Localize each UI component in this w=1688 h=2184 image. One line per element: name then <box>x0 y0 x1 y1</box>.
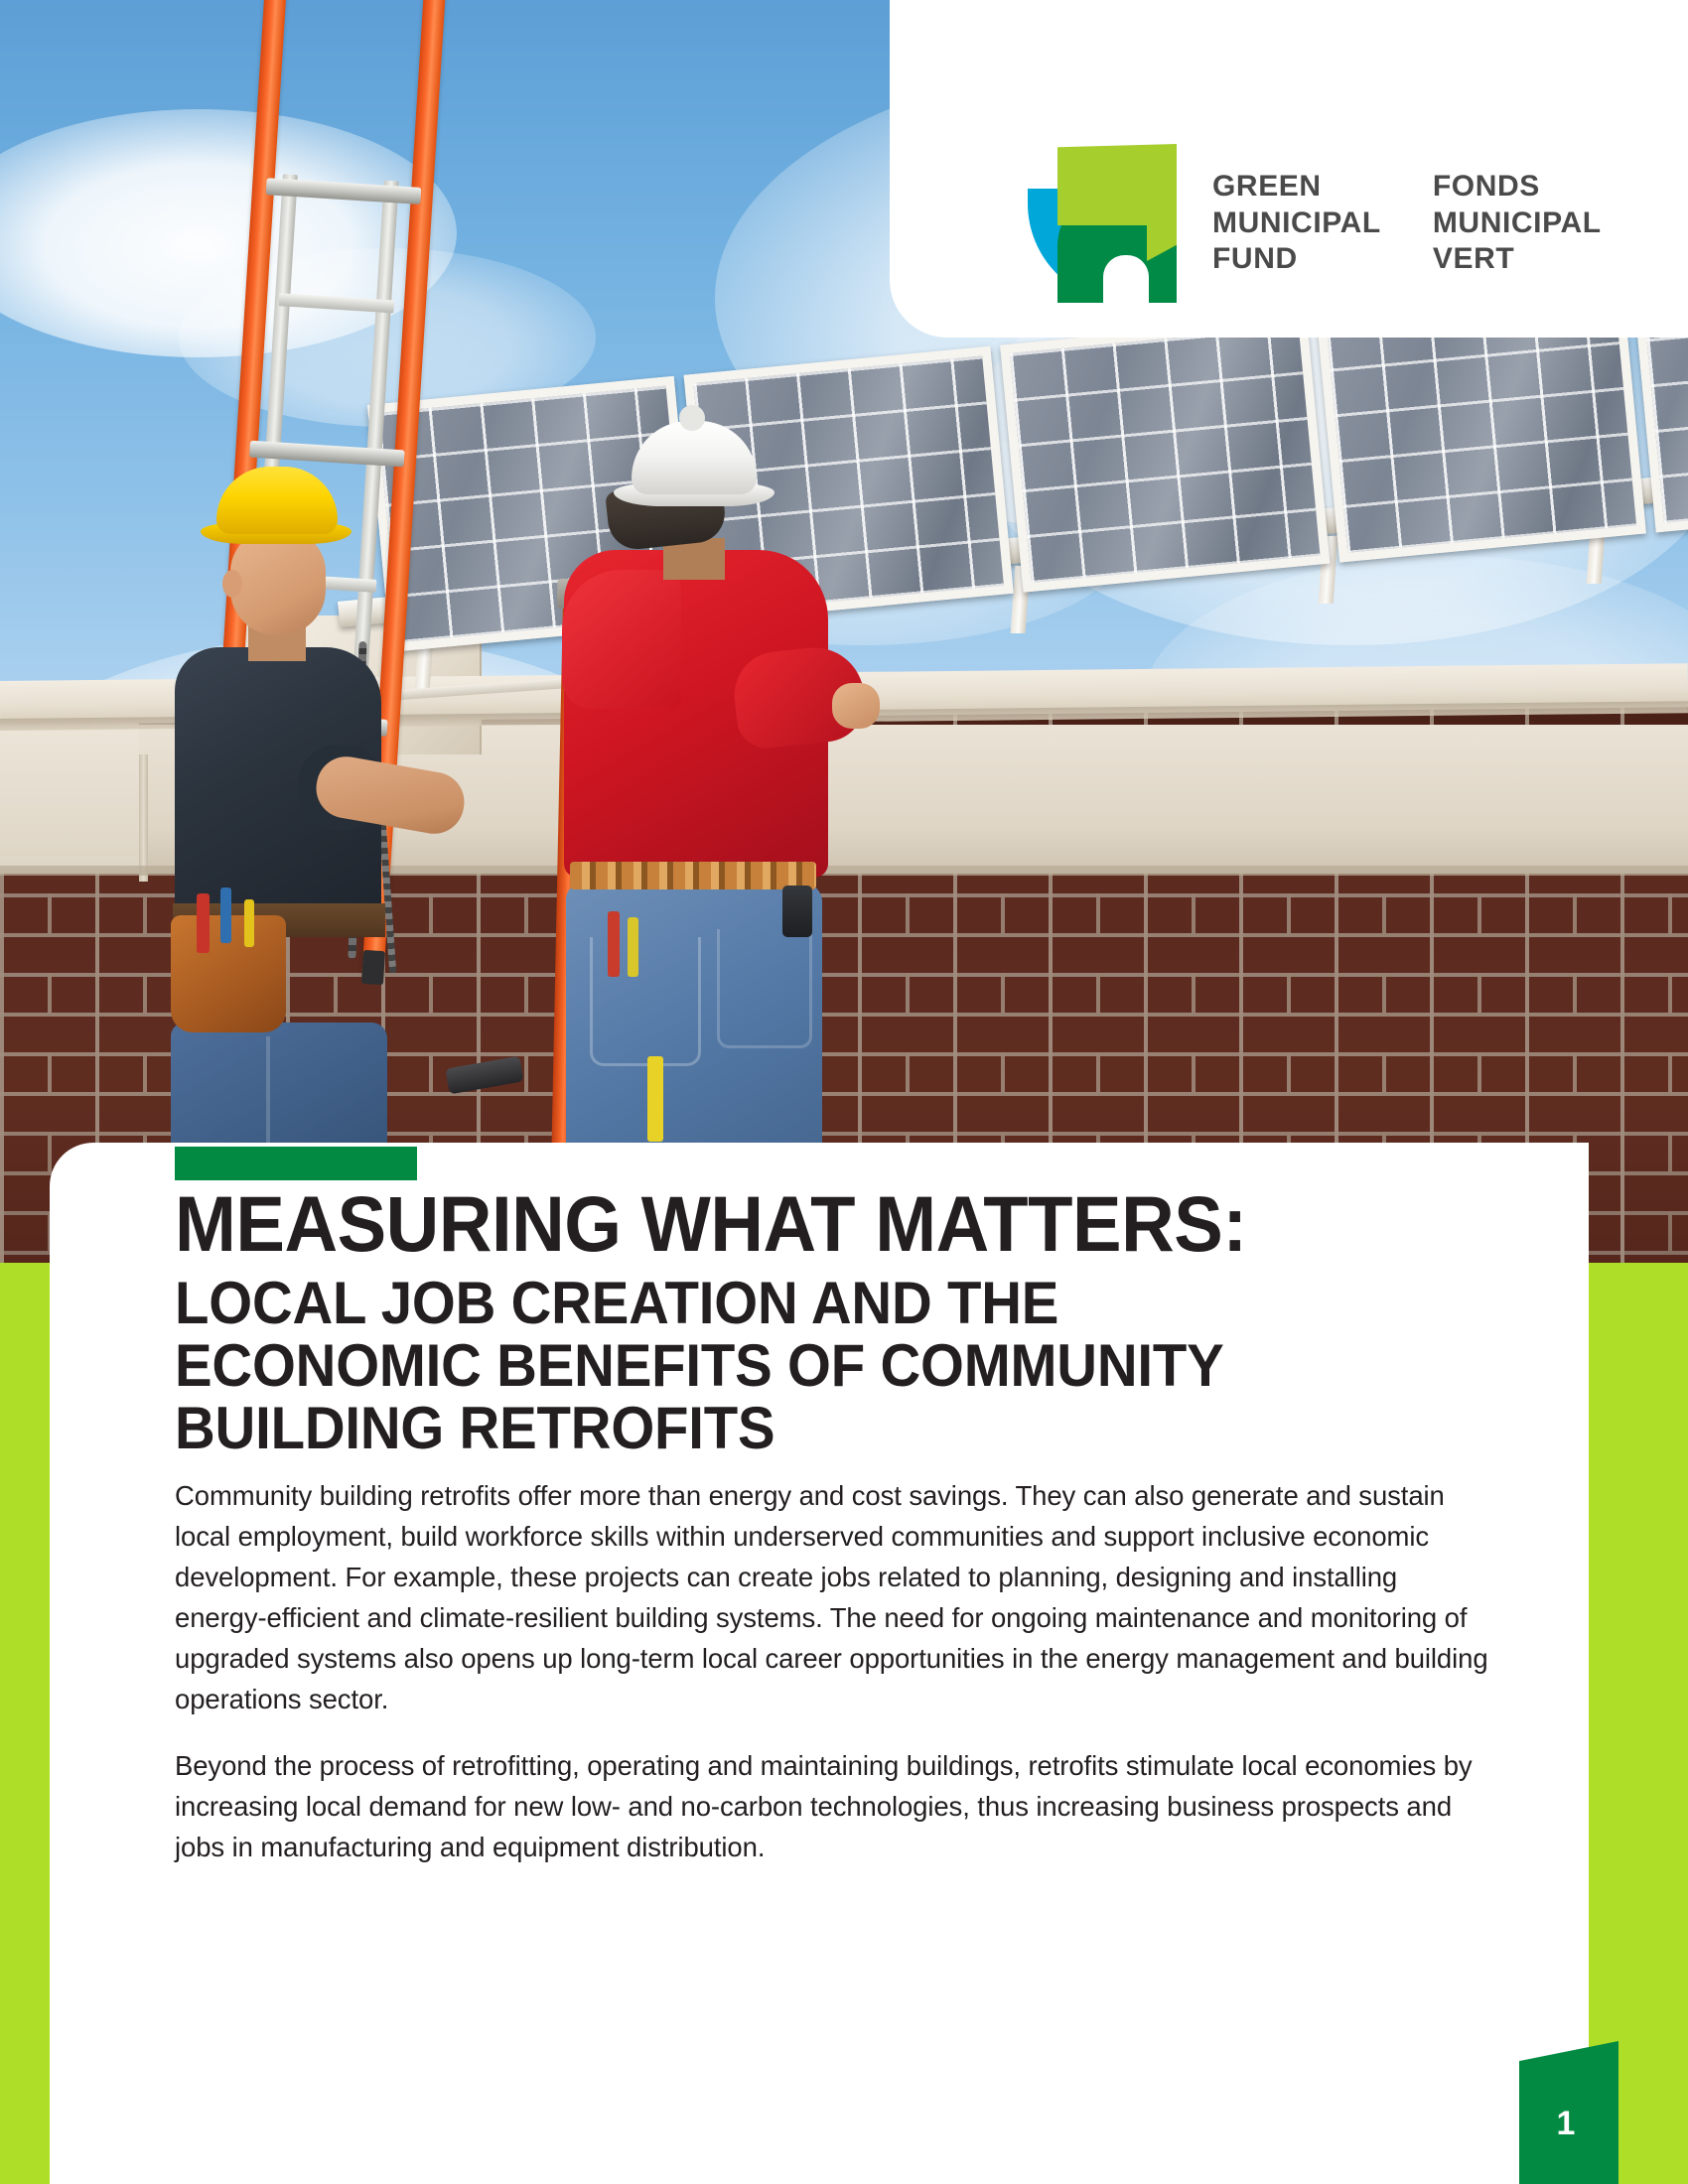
worker-head <box>230 530 326 635</box>
logo-en-line3: FUND <box>1212 241 1381 278</box>
document-page: GREEN MUNICIPAL FUND FONDS MUNICIPAL VER… <box>0 0 1688 2184</box>
body-copy: Community building retrofits offer more … <box>175 1476 1495 1868</box>
logo-wordmark-english: GREEN MUNICIPAL FUND <box>1212 169 1381 278</box>
jeans-pocket <box>717 929 812 1048</box>
green-accent-bar <box>175 1147 417 1180</box>
title-sub-line1: LOCAL JOB CREATION AND THE <box>175 1272 1360 1334</box>
page-number-tab: 1 <box>1519 2041 1618 2184</box>
logo-fr-line1: FONDS <box>1433 169 1602 205</box>
woven-belt <box>570 862 816 889</box>
jeans-pocket <box>590 937 701 1066</box>
worker-white-hardhat <box>556 421 874 1263</box>
tape-measure <box>782 886 812 937</box>
logo-fr-line3: VERT <box>1433 241 1602 278</box>
page-number: 1 <box>1557 2105 1576 2143</box>
worker-ear <box>222 570 242 598</box>
title-subtitle: LOCAL JOB CREATION AND THE ECONOMIC BENE… <box>175 1272 1360 1459</box>
hand-tool <box>647 1056 663 1142</box>
solar-cells <box>1010 326 1321 582</box>
hand-tool <box>220 887 231 943</box>
logo-wordmark: GREEN MUNICIPAL FUND FONDS MUNICIPAL VER… <box>1212 169 1602 278</box>
title-sub-line3: BUILDING RETROFITS <box>175 1397 1360 1459</box>
worker-shoulder <box>562 570 681 709</box>
logo-wordmark-french: FONDS MUNICIPAL VERT <box>1433 169 1602 278</box>
solar-panel <box>1000 317 1330 593</box>
logo-en-line1: GREEN <box>1212 169 1381 205</box>
logo-en-line2: MUNICIPAL <box>1212 205 1381 242</box>
yellow-hardhat <box>216 467 338 534</box>
body-paragraph-1: Community building retrofits offer more … <box>175 1476 1495 1720</box>
facade-column <box>139 754 148 882</box>
hardhat-knob <box>679 405 705 431</box>
hand-tool <box>608 911 620 977</box>
hand-tool <box>244 899 254 947</box>
gmf-logo-mark-icon <box>1028 144 1177 303</box>
lime-band-left <box>0 1263 50 2184</box>
logo-fr-line2: MUNICIPAL <box>1433 205 1602 242</box>
page-title: MEASURING WHAT MATTERS: LOCAL JOB CREATI… <box>175 1186 1436 1459</box>
title-sub-line2: ECONOMIC BENEFITS OF COMMUNITY <box>175 1334 1360 1397</box>
body-paragraph-2: Beyond the process of retrofitting, oper… <box>175 1746 1495 1868</box>
hand-tool <box>628 917 638 977</box>
worker-hand <box>832 683 880 729</box>
title-main-line: MEASURING WHAT MATTERS: <box>175 1186 1360 1262</box>
hand-tool <box>197 893 210 953</box>
white-hardhat <box>632 421 757 494</box>
logo-arch-notch <box>1103 255 1149 307</box>
green-municipal-fund-logo[interactable]: GREEN MUNICIPAL FUND FONDS MUNICIPAL VER… <box>1028 139 1584 308</box>
